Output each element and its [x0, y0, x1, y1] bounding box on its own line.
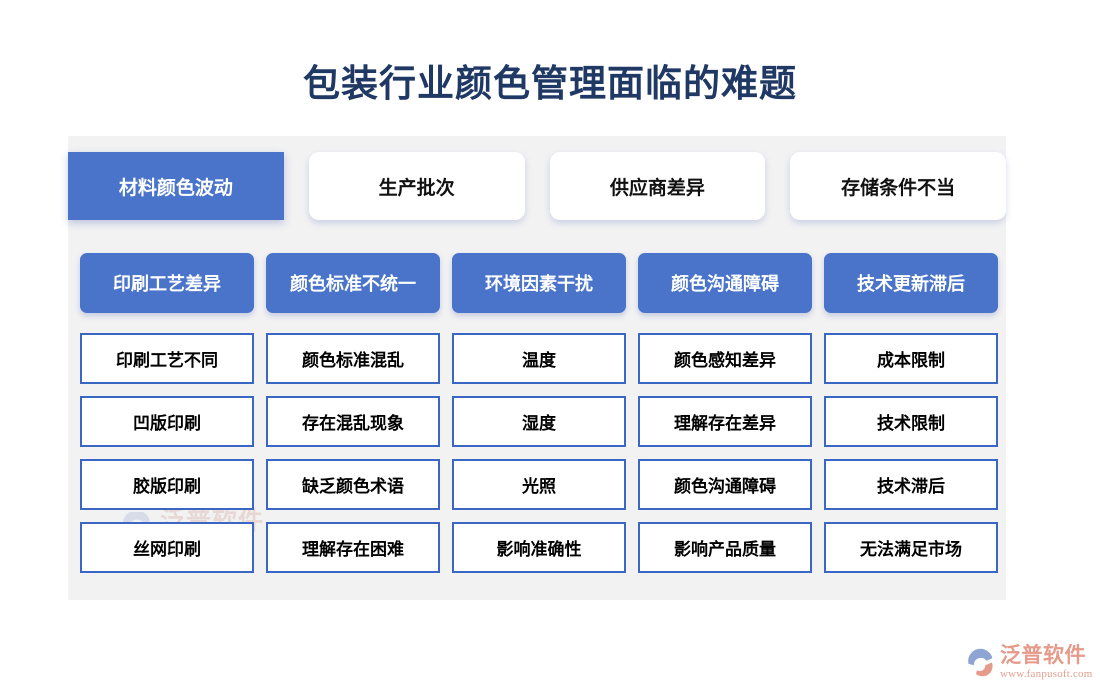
top-card-1-label: 生产批次 [379, 173, 455, 200]
grid-cell-1-0-label: 凹版印刷 [133, 409, 201, 434]
grid-cell-0-2[interactable]: 温度 [452, 333, 626, 384]
detail-grid: 印刷工艺不同 颜色标准混乱 温度 颜色感知差异 成本限制 凹版印刷 存在混乱现象… [80, 333, 998, 573]
table-row: 凹版印刷 存在混乱现象 湿度 理解存在差异 技术限制 [80, 396, 998, 447]
table-row: 印刷工艺不同 颜色标准混乱 温度 颜色感知差异 成本限制 [80, 333, 998, 384]
grid-cell-3-0[interactable]: 丝网印刷 [80, 522, 254, 573]
grid-cell-0-1-label: 颜色标准混乱 [302, 346, 404, 371]
grid-cell-3-1-label: 理解存在困难 [302, 535, 404, 560]
category-header-0[interactable]: 印刷工艺差异 [80, 253, 254, 313]
category-header-row: 印刷工艺差异 颜色标准不统一 环境因素干扰 颜色沟通障碍 技术更新滞后 [80, 253, 998, 313]
grid-cell-0-0[interactable]: 印刷工艺不同 [80, 333, 254, 384]
category-header-3-label: 颜色沟通障碍 [671, 270, 779, 296]
category-header-2-label: 环境因素干扰 [485, 270, 593, 296]
grid-cell-3-2-label: 影响准确性 [497, 535, 582, 560]
grid-cell-0-3-label: 颜色感知差异 [674, 346, 776, 371]
grid-cell-3-2[interactable]: 影响准确性 [452, 522, 626, 573]
category-header-3[interactable]: 颜色沟通障碍 [638, 253, 812, 313]
brand-logo-url: www.fanpusoft.com [1000, 669, 1093, 680]
grid-cell-3-1[interactable]: 理解存在困难 [266, 522, 440, 573]
category-header-4-label: 技术更新滞后 [857, 270, 965, 296]
grid-cell-2-1-label: 缺乏颜色术语 [302, 472, 404, 497]
grid-cell-2-4-label: 技术滞后 [877, 472, 945, 497]
category-header-1[interactable]: 颜色标准不统一 [266, 253, 440, 313]
brand-logo-name: 泛普软件 [1000, 645, 1093, 666]
table-row: 丝网印刷 理解存在困难 影响准确性 影响产品质量 无法满足市场 [80, 522, 998, 573]
top-card-3-label: 存储条件不当 [841, 173, 955, 200]
top-cause-row: 材料颜色波动 生产批次 供应商差异 存储条件不当 [68, 152, 1006, 220]
grid-cell-0-2-label: 温度 [522, 346, 556, 371]
grid-cell-2-1[interactable]: 缺乏颜色术语 [266, 459, 440, 510]
top-card-3[interactable]: 存储条件不当 [790, 152, 1006, 220]
table-row: 胶版印刷 缺乏颜色术语 光照 颜色沟通障碍 技术滞后 [80, 459, 998, 510]
top-card-0[interactable]: 材料颜色波动 [68, 152, 284, 220]
grid-cell-1-1[interactable]: 存在混乱现象 [266, 396, 440, 447]
grid-cell-3-4[interactable]: 无法满足市场 [824, 522, 998, 573]
grid-cell-1-4-label: 技术限制 [877, 409, 945, 434]
grid-cell-1-3[interactable]: 理解存在差异 [638, 396, 812, 447]
grid-cell-1-1-label: 存在混乱现象 [302, 409, 404, 434]
grid-cell-0-1[interactable]: 颜色标准混乱 [266, 333, 440, 384]
top-card-2[interactable]: 供应商差异 [550, 152, 766, 220]
grid-cell-2-3-label: 颜色沟通障碍 [674, 472, 776, 497]
brand-logo: 泛普软件 www.fanpusoft.com [965, 645, 1093, 680]
category-header-1-label: 颜色标准不统一 [290, 270, 416, 296]
grid-cell-2-3[interactable]: 颜色沟通障碍 [638, 459, 812, 510]
grid-cell-0-0-label: 印刷工艺不同 [116, 346, 218, 371]
grid-cell-2-2[interactable]: 光照 [452, 459, 626, 510]
top-card-0-label: 材料颜色波动 [119, 173, 233, 200]
grid-cell-3-0-label: 丝网印刷 [133, 535, 201, 560]
top-card-2-label: 供应商差异 [610, 173, 705, 200]
grid-cell-0-4[interactable]: 成本限制 [824, 333, 998, 384]
fanpu-logo-icon [965, 648, 995, 678]
grid-cell-2-0-label: 胶版印刷 [133, 472, 201, 497]
top-card-1[interactable]: 生产批次 [309, 152, 525, 220]
category-header-4[interactable]: 技术更新滞后 [824, 253, 998, 313]
grid-cell-0-4-label: 成本限制 [877, 346, 945, 371]
grid-cell-3-3[interactable]: 影响产品质量 [638, 522, 812, 573]
grid-cell-2-4[interactable]: 技术滞后 [824, 459, 998, 510]
grid-cell-1-4[interactable]: 技术限制 [824, 396, 998, 447]
grid-cell-1-2[interactable]: 湿度 [452, 396, 626, 447]
grid-cell-3-3-label: 影响产品质量 [674, 535, 776, 560]
category-header-2[interactable]: 环境因素干扰 [452, 253, 626, 313]
page-title: 包装行业颜色管理面临的难题 [0, 62, 1100, 106]
grid-cell-2-2-label: 光照 [522, 472, 556, 497]
grid-cell-1-3-label: 理解存在差异 [674, 409, 776, 434]
grid-cell-2-0[interactable]: 胶版印刷 [80, 459, 254, 510]
grid-cell-1-2-label: 湿度 [522, 409, 556, 434]
grid-cell-3-4-label: 无法满足市场 [860, 535, 962, 560]
grid-cell-1-0[interactable]: 凹版印刷 [80, 396, 254, 447]
grid-cell-0-3[interactable]: 颜色感知差异 [638, 333, 812, 384]
category-header-0-label: 印刷工艺差异 [113, 270, 221, 296]
